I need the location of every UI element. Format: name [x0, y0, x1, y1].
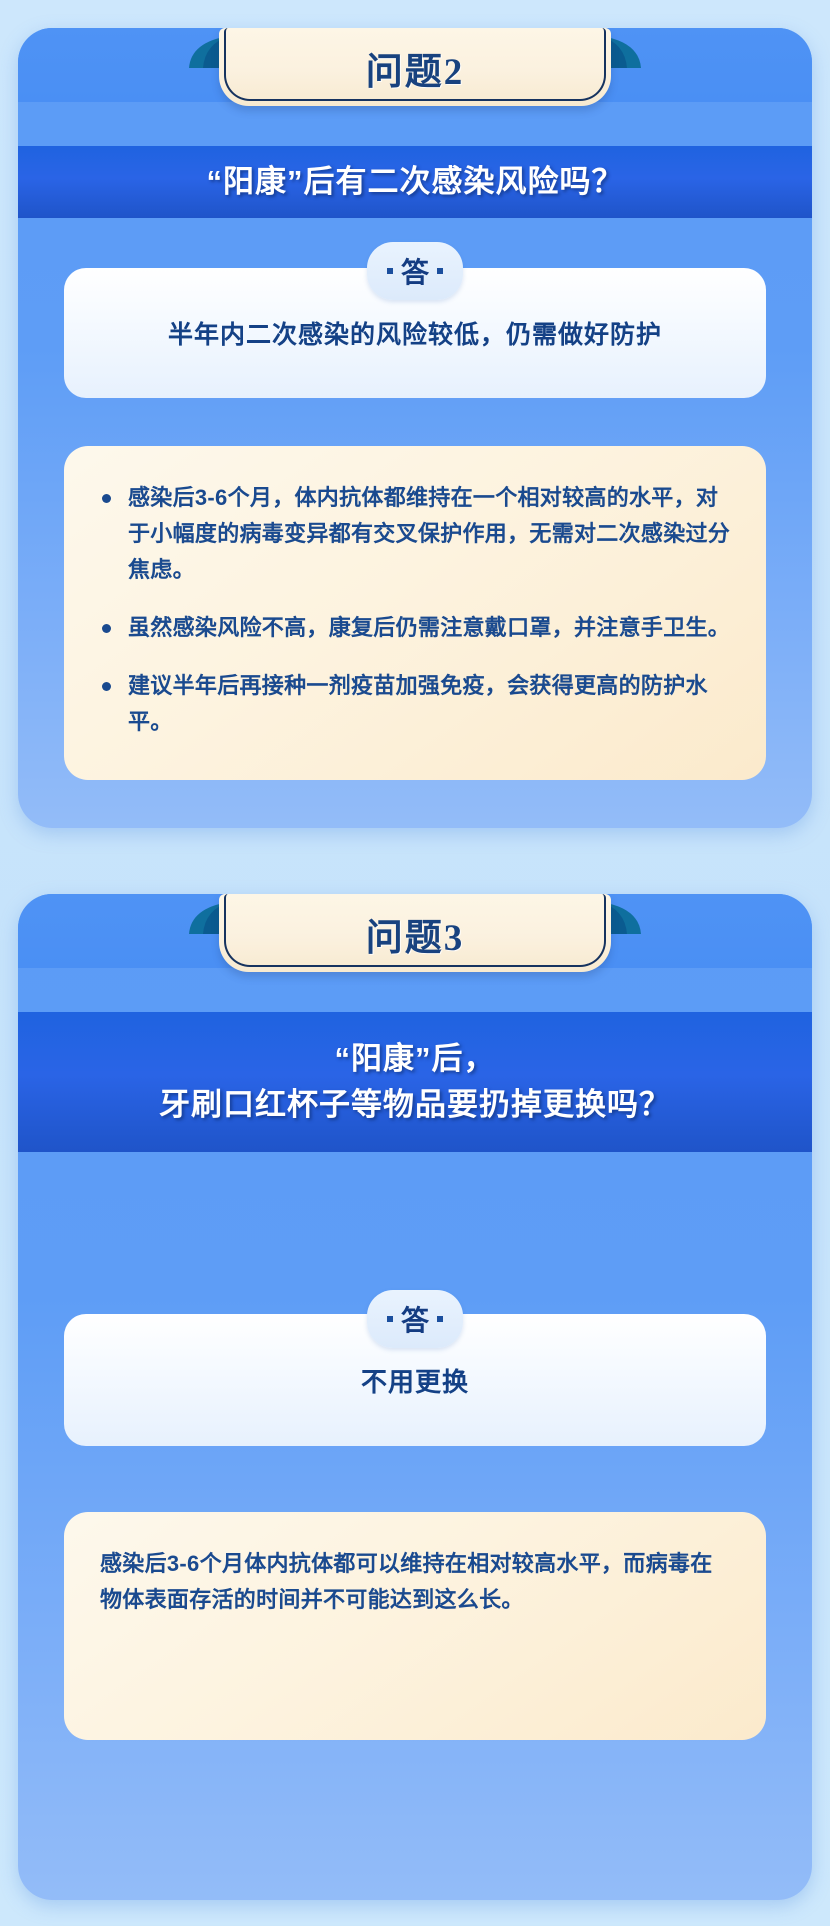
question-title: “阳康”后有二次感染风险吗？ — [18, 146, 812, 218]
details-panel: 感染后3-6个月，体内抗体都维持在一个相对较高的水平，对于小幅度的病毒变异都有交… — [64, 446, 766, 780]
question-title: “阳康”后， 牙刷口红杯子等物品要扔掉更换吗？ — [18, 1012, 812, 1152]
badge-dot-right-icon — [437, 268, 443, 274]
badge-dot-right-icon — [437, 1316, 443, 1322]
answer-badge-label: 答 — [401, 1299, 429, 1339]
details-panel: 感染后3-6个月体内抗体都可以维持在相对较高水平，而病毒在物体表面存活的时间并不… — [64, 1512, 766, 1740]
answer-headline-text: 半年内二次感染的风险较低，仍需做好防护 — [168, 315, 662, 351]
ribbon-plate: 问题2 — [219, 28, 611, 106]
list-item: 感染后3-6个月，体内抗体都维持在一个相对较高的水平，对于小幅度的病毒变异都有交… — [94, 480, 732, 588]
infographic-page: 问题2 “阳康”后有二次感染风险吗？ 半年内二次感染的风险较低，仍需做好防护 答… — [0, 0, 830, 1926]
answer-badge: 答 — [367, 1290, 463, 1348]
question-card-2: 问题2 “阳康”后有二次感染风险吗？ 半年内二次感染的风险较低，仍需做好防护 答… — [18, 28, 812, 828]
question-title-line-2: 牙刷口红杯子等物品要扔掉更换吗？ — [159, 1082, 671, 1128]
badge-dot-left-icon — [387, 268, 393, 274]
answer-headline-text: 不用更换 — [361, 1362, 469, 1399]
ribbon-label: 问题3 — [366, 907, 465, 961]
details-paragraph: 感染后3-6个月体内抗体都可以维持在相对较高水平，而病毒在物体表面存活的时间并不… — [100, 1546, 730, 1618]
list-item: 建议半年后再接种一剂疫苗加强免疫，会获得更高的防护水平。 — [94, 668, 732, 740]
ribbon-header: 问题2 — [18, 28, 812, 114]
question-card-3: 问题3 “阳康”后， 牙刷口红杯子等物品要扔掉更换吗？ 不用更换 答 感染后3-… — [18, 894, 812, 1900]
list-item: 虽然感染风险不高，康复后仍需注意戴口罩，并注意手卫生。 — [94, 610, 732, 646]
answer-badge: 答 — [367, 242, 463, 300]
details-bullet-list: 感染后3-6个月，体内抗体都维持在一个相对较高的水平，对于小幅度的病毒变异都有交… — [94, 480, 732, 740]
ribbon-label: 问题2 — [366, 41, 465, 95]
ribbon-plate: 问题3 — [219, 894, 611, 972]
badge-dot-left-icon — [387, 1316, 393, 1322]
ribbon-header: 问题3 — [18, 894, 812, 980]
question-title-line-1: “阳康”后， — [159, 1036, 671, 1082]
answer-badge-label: 答 — [401, 251, 429, 291]
